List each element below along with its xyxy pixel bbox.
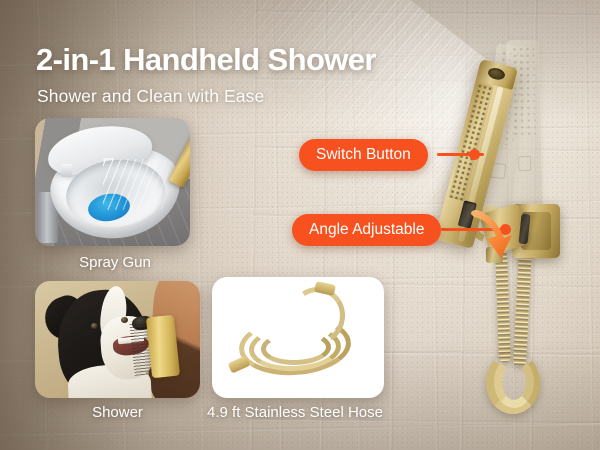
switch-button-target-dot: [469, 149, 480, 160]
feature-card-spray-gun[interactable]: [35, 118, 190, 246]
page-title: 2-in-1 Handheld Shower: [36, 42, 376, 78]
callout-angle-adjustable-label: Angle Adjustable: [309, 221, 424, 239]
ghost-nozzle-dots: [511, 46, 536, 138]
callout-angle-adjustable[interactable]: Angle Adjustable: [292, 214, 441, 246]
wand-inlet-hole: [487, 66, 506, 81]
curved-arrow-icon: [467, 208, 521, 260]
hose-loop-inner: [494, 356, 534, 408]
caption-hose: 4.9 ft Stainless Steel Hose: [205, 404, 385, 421]
callout-switch-button-label: Switch Button: [316, 146, 411, 164]
hose-connector-bottom: [228, 355, 251, 373]
caption-spray-gun: Spray Gun: [35, 254, 195, 271]
ghost-wand-position-2: [506, 40, 542, 209]
toilet-hinge-left: [61, 164, 72, 177]
callout-switch-button[interactable]: Switch Button: [299, 139, 428, 171]
feature-card-hose[interactable]: [212, 277, 384, 398]
page-subtitle: Shower and Clean with Ease: [37, 86, 264, 107]
toilet-spray-jets: [103, 159, 168, 210]
gold-handheld-shower-brush: [146, 315, 180, 378]
hose-coil-illustration: [233, 295, 363, 381]
product-banner: Switch Button Angle Adjustable 2-in-1 Ha…: [0, 0, 600, 450]
caption-shower: Shower: [35, 404, 200, 421]
ghost-switch-slot: [518, 156, 531, 171]
feature-card-shower[interactable]: [35, 281, 200, 398]
